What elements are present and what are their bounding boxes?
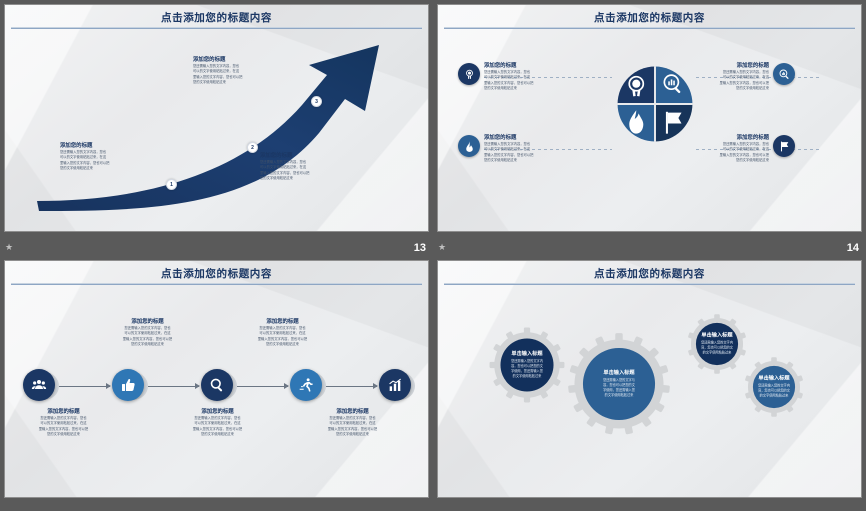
quadrant-item-2[interactable]: 添加您的标题 您还需输入您的文字内容，您也 可以的文字使用粘贴过来，在这 里输入… <box>458 135 570 163</box>
slide-gears[interactable]: 点击添加您的标题内容 <box>437 260 862 498</box>
process-text-4[interactable]: 添加您的标题 您还需输入您的文字内容，您也可以的文字使用粘贴过来，在这 里输入您… <box>235 319 330 347</box>
process-text-2[interactable]: 添加您的标题 您还需输入您的文字内容，您也可以的文字使用粘贴过来，在这 里输入您… <box>100 319 195 347</box>
title-divider <box>444 283 855 285</box>
flame-icon <box>458 135 480 157</box>
text-block-3[interactable]: 添加您的标题 您还需输入您的文字内容，您也 可以的文字使用粘贴过来，在这 里输入… <box>260 153 352 181</box>
process-step-row <box>23 369 413 403</box>
block-body: 您还需输入您的文字内容，您也可以的文字使用粘贴过来，在这 里输入您的文字内容，您… <box>170 416 265 436</box>
quadrant-item-1[interactable]: 添加您的标题 您还需输入您的文字内容，您也 可以的文字使用粘贴过来，在这 里输入… <box>458 63 570 91</box>
item-body: 您还需输入您的文字内容，您也 可以的文字使用粘贴过来，在这 里输入您的文字内容，… <box>484 142 570 162</box>
title-divider <box>444 27 855 29</box>
process-step-4[interactable] <box>290 369 324 403</box>
quadrant-text: 添加您的标题 您还需输入您的文字内容，您也 可以的文字使用粘贴过来，在这 里输入… <box>484 135 570 163</box>
gear-body: 您还需输入您的文字内 容，您也可以把您的文 的文字使用粘贴过来 <box>749 383 799 398</box>
gear-3[interactable]: 单击输入标题 您还需输入您的文字内 容，您也可以把您的文 的文字使用粘贴过来 <box>686 313 748 375</box>
page-title: 点击添加您的标题内容 <box>5 266 428 281</box>
star-icon[interactable]: ★ <box>5 243 13 252</box>
gear-title: 单击输入标题 <box>494 351 560 359</box>
quadrant-item-3[interactable]: 添加您的标题 您还需输入您的文字内容，您也 可以的文字使用粘贴过来，在这 里输入… <box>683 63 795 91</box>
gear-1[interactable]: 单击输入标题 您还需输入您的文字内 容，您也可以把您的文 字使用，您还需输入您 … <box>488 326 566 404</box>
block-body: 您还需输入您的文字内容，您也可以的文字使用粘贴过来，在这 里输入您的文字内容，您… <box>235 326 330 346</box>
process-text-1[interactable]: 添加您的标题 您还需输入您的文字内容，您也可以的文字使用粘贴过来，在这 里输入您… <box>16 409 111 437</box>
arrow-marker-2: 2 <box>247 142 258 153</box>
gear-label: 单击输入标题 您还需输入您的文字内 容，您也可以把您的文 字使用，您还需输入您 … <box>488 351 566 379</box>
gear-4[interactable]: 单击输入标题 您还需输入您的文字内 容，您也可以把您的文 的文字使用粘贴过来 <box>743 356 805 418</box>
people-icon <box>23 369 55 401</box>
process-step-2[interactable] <box>112 369 146 403</box>
slide-cell-2[interactable]: 点击添加您的标题内容 <box>433 0 866 256</box>
slide-cell-3[interactable]: 点击添加您的标题内容 <box>0 256 433 511</box>
gear-body: 您还需输入您的文字与 容，您也可以把您的文 字使用，您还需输入您 的文字使用粘贴… <box>572 378 666 398</box>
gear-title: 单击输入标题 <box>749 376 799 384</box>
text-block-1[interactable]: 添加您的标题 您还需输入您的文字内容，您也 可以的文字使用粘贴过来，在这 里输入… <box>60 143 152 171</box>
block-body: 您还需输入您的文字内容，您也 可以的文字使用粘贴过来，在这 里输入您的文字内容，… <box>260 160 352 180</box>
gear-body: 您还需输入您的文字内 容，您也可以把您的文 的文字使用粘贴过来 <box>692 340 742 355</box>
quadrant-text: 添加您的标题 您还需输入您的文字内容，您也 可以的文字使用粘贴过来，在这 里输入… <box>683 63 769 91</box>
magnifier-chart-icon <box>773 63 795 85</box>
gear-title: 单击输入标题 <box>692 333 742 341</box>
slide-arrow[interactable]: 点击添加您的标题内容 1 2 3 添加您的标题 您还需输入您的文字内容， <box>4 4 429 232</box>
gear-label: 单击输入标题 您还需输入您的文字内 容，您也可以把您的文 的文字使用粘贴过来 <box>686 333 748 356</box>
block-body: 您还需输入您的文字内容，您也可以的文字使用粘贴过来，在这 里输入您的文字内容，您… <box>100 326 195 346</box>
process-step-1[interactable] <box>23 369 57 403</box>
runner-icon <box>290 369 322 401</box>
block-body: 您还需输入您的文字内容，您也可以的文字使用粘贴过来，在这 里输入您的文字内容，您… <box>305 416 400 436</box>
slide-quadrant[interactable]: 点击添加您的标题内容 <box>437 4 862 232</box>
slide-footer-1: ★ 13 <box>0 236 433 256</box>
gear-title: 单击输入标题 <box>572 370 666 378</box>
arrow-marker-3: 3 <box>311 96 322 107</box>
quadrant-text: 添加您的标题 您还需输入您的文字内容，您也 可以的文字使用粘贴过来，在这 里输入… <box>484 63 570 91</box>
flag-icon <box>773 135 795 157</box>
process-text-3[interactable]: 添加您的标题 您还需输入您的文字内容，您也可以的文字使用粘贴过来，在这 里输入您… <box>170 409 265 437</box>
block-body: 您还需输入您的文字内容，您也可以的文字使用粘贴过来，在这 里输入您的文字内容，您… <box>16 416 111 436</box>
connector-arrow <box>148 386 199 387</box>
page-title: 点击添加您的标题内容 <box>438 10 861 25</box>
medal-icon <box>458 63 480 85</box>
slide-cell-1[interactable]: 点击添加您的标题内容 1 2 3 添加您的标题 您还需输入您的文字内容， <box>0 0 433 256</box>
title-divider <box>11 27 422 29</box>
block-body: 您还需输入您的文字内容，您也 可以的文字使用粘贴过来，在这 里输入您的文字内容，… <box>60 150 152 170</box>
gear-body: 您还需输入您的文字内 容，您也可以把您的文 字使用，您还需输入您 的文字使用粘贴… <box>494 359 560 379</box>
quadrant-text: 添加您的标题 您还需输入您的文字内容，您也 可以的文字使用粘贴过来，在这 里输入… <box>683 135 769 163</box>
slide-process[interactable]: 点击添加您的标题内容 <box>4 260 429 498</box>
thumbs-up-icon <box>112 369 144 401</box>
connector-arrow <box>326 386 377 387</box>
process-step-5[interactable] <box>379 369 413 403</box>
quadrant-item-4[interactable]: 添加您的标题 您还需输入您的文字内容，您也 可以的文字使用粘贴过来，在这 里输入… <box>683 135 795 163</box>
title-divider <box>11 283 422 285</box>
item-body: 您还需输入您的文字内容，您也 可以的文字使用粘贴过来，在这 里输入您的文字内容，… <box>484 70 570 90</box>
gear-2[interactable]: 单击输入标题 您还需输入您的文字与 容，您也可以把您的文 字使用，您还需输入您 … <box>566 331 672 437</box>
slide-cell-4[interactable]: 点击添加您的标题内容 <box>433 256 866 511</box>
slide-thumbnail-grid: 点击添加您的标题内容 1 2 3 添加您的标题 您还需输入您的文字内容， <box>0 0 866 511</box>
magnifier-icon <box>201 369 233 401</box>
text-block-2[interactable]: 添加您的标题 您还需输入您的文字内容，您也 可以的文字使用粘贴过来，在这 里输入… <box>193 57 285 85</box>
gear-label: 单击输入标题 您还需输入您的文字内 容，您也可以把您的文 的文字使用粘贴过来 <box>743 376 805 399</box>
star-icon[interactable]: ★ <box>438 243 446 252</box>
arrow-marker-1: 1 <box>166 179 177 190</box>
page-number: 14 <box>847 242 859 254</box>
process-text-5[interactable]: 添加您的标题 您还需输入您的文字内容，您也可以的文字使用粘贴过来，在这 里输入您… <box>305 409 400 437</box>
page-number: 13 <box>414 242 426 254</box>
slide-footer-2: ★ 14 <box>433 236 866 256</box>
block-body: 您还需输入您的文字内容，您也 可以的文字使用粘贴过来，在这 里输入您的文字内容，… <box>193 64 285 84</box>
connector-arrow <box>59 386 110 387</box>
bar-chart-icon <box>379 369 411 401</box>
page-title: 点击添加您的标题内容 <box>5 10 428 25</box>
gear-label: 单击输入标题 您还需输入您的文字与 容，您也可以把您的文 字使用，您还需输入您 … <box>566 370 672 398</box>
page-title: 点击添加您的标题内容 <box>438 266 861 281</box>
connector-arrow <box>237 386 288 387</box>
process-step-3[interactable] <box>201 369 235 403</box>
item-body: 您还需输入您的文字内容，您也 可以的文字使用粘贴过来，在这 里输入您的文字内容，… <box>683 142 769 162</box>
item-body: 您还需输入您的文字内容，您也 可以的文字使用粘贴过来，在这 里输入您的文字内容，… <box>683 70 769 90</box>
